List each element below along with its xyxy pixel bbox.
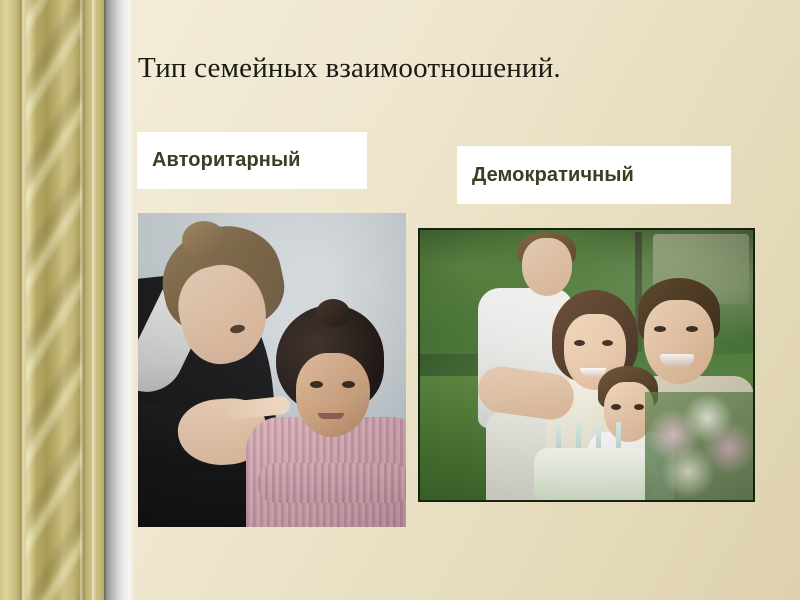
adult-hair-bun — [182, 221, 226, 259]
father-smile — [660, 354, 694, 368]
mother-eye-right — [602, 340, 613, 346]
child-crossed-arms — [258, 463, 406, 503]
left-decorative-border — [0, 0, 136, 600]
older-boy-face — [522, 238, 572, 296]
mother-eye-left — [574, 340, 585, 346]
father-eye-right — [686, 326, 698, 332]
gold-rib-left — [20, 0, 24, 600]
child-hair-bun — [316, 299, 350, 327]
gold-diagonal-stripes — [26, 0, 82, 600]
gold-rib-right — [92, 0, 98, 600]
label-box-democratic: Демократичный — [458, 147, 730, 203]
page-title: Тип семейных взаимоотношений. — [138, 52, 778, 85]
label-box-authoritarian: Авторитарный — [138, 133, 366, 188]
photo-democratic — [418, 228, 755, 502]
child-eye-right — [342, 381, 355, 388]
gold-rib-mid — [80, 0, 85, 600]
father-face — [644, 300, 714, 384]
gray-gradient-strip — [106, 0, 134, 600]
label-authoritarian: Авторитарный — [138, 149, 301, 172]
younger-boy-eye-left — [611, 404, 621, 410]
child-eye-left — [310, 381, 323, 388]
label-democratic: Демократичный — [458, 164, 634, 187]
birthday-cake — [534, 448, 654, 500]
slide-canvas: Тип семейных взаимоотношений. Авторитарн… — [0, 0, 800, 600]
father-eye-left — [654, 326, 666, 332]
younger-boy-eye-right — [634, 404, 644, 410]
photo-authoritarian — [138, 213, 406, 527]
child-mouth — [318, 413, 344, 419]
flower-bouquet — [645, 392, 753, 500]
